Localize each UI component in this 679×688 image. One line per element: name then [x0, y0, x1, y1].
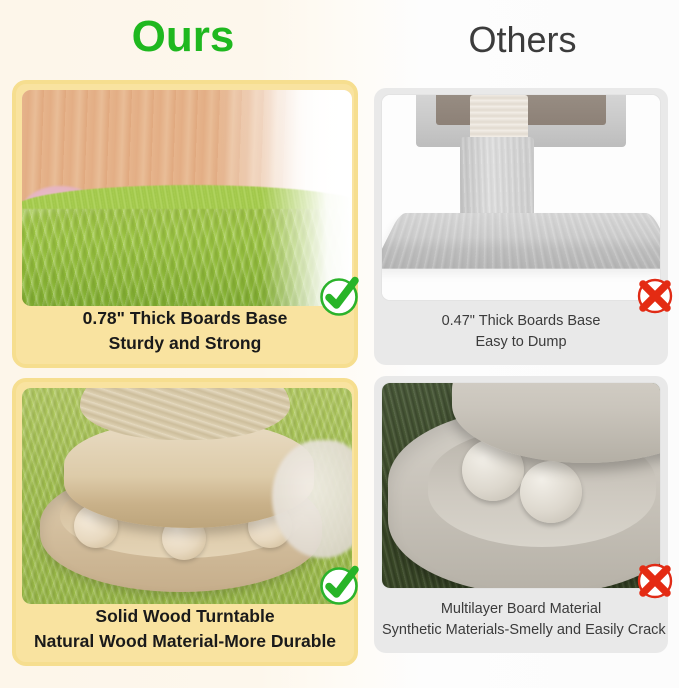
caption-line-1: Solid Wood Turntable [26, 604, 344, 629]
check-icon [318, 565, 360, 607]
others-caption-thickness: 0.47" Thick Boards Base Easy to Dump [374, 311, 668, 353]
others-caption-turntable: Multilayer Board Material Synthetic Mate… [374, 599, 668, 641]
caption-line-1: 0.78" Thick Boards Base [26, 306, 344, 331]
caption-line-1: Multilayer Board Material [382, 599, 660, 620]
product-comparison-board: Ours Others 0.78" Thick Boards Base Stur… [0, 0, 679, 688]
caption-line-1: 0.47" Thick Boards Base [382, 311, 660, 332]
thin-square-base [382, 213, 660, 269]
ours-photo-wood-turntable [22, 388, 352, 604]
ours-card-thickness: 0.78" Thick Boards Base Sturdy and Stron… [12, 80, 358, 368]
check-icon [318, 276, 360, 318]
ours-photo-thick-board [22, 90, 352, 306]
others-card-thickness: 0.47" Thick Boards Base Easy to Dump [374, 88, 668, 365]
gray-ball [520, 461, 582, 523]
ours-card-turntable: Solid Wood Turntable Natural Wood Materi… [12, 378, 358, 666]
others-column-title: Others [366, 18, 679, 62]
caption-line-2: Natural Wood Material-More Durable [26, 629, 344, 654]
others-card-turntable: Multilayer Board Material Synthetic Mate… [374, 376, 668, 653]
sisal-rope-post [470, 95, 528, 141]
caption-line-2: Easy to Dump [382, 332, 660, 353]
ours-caption-thickness: 0.78" Thick Boards Base Sturdy and Stron… [16, 306, 354, 356]
cross-icon [634, 275, 676, 317]
caption-line-2: Synthetic Materials-Smelly and Easily Cr… [382, 620, 660, 641]
cross-icon [634, 560, 676, 602]
photo-highlight-fade [262, 90, 352, 306]
comparison-header: Ours Others [0, 0, 679, 78]
ours-column-title: Ours [0, 12, 366, 62]
ours-caption-turntable: Solid Wood Turntable Natural Wood Materi… [16, 604, 354, 654]
others-photo-multilayer-turntable [382, 383, 660, 588]
others-photo-thin-base [382, 95, 660, 300]
caption-line-2: Sturdy and Strong [26, 331, 344, 356]
